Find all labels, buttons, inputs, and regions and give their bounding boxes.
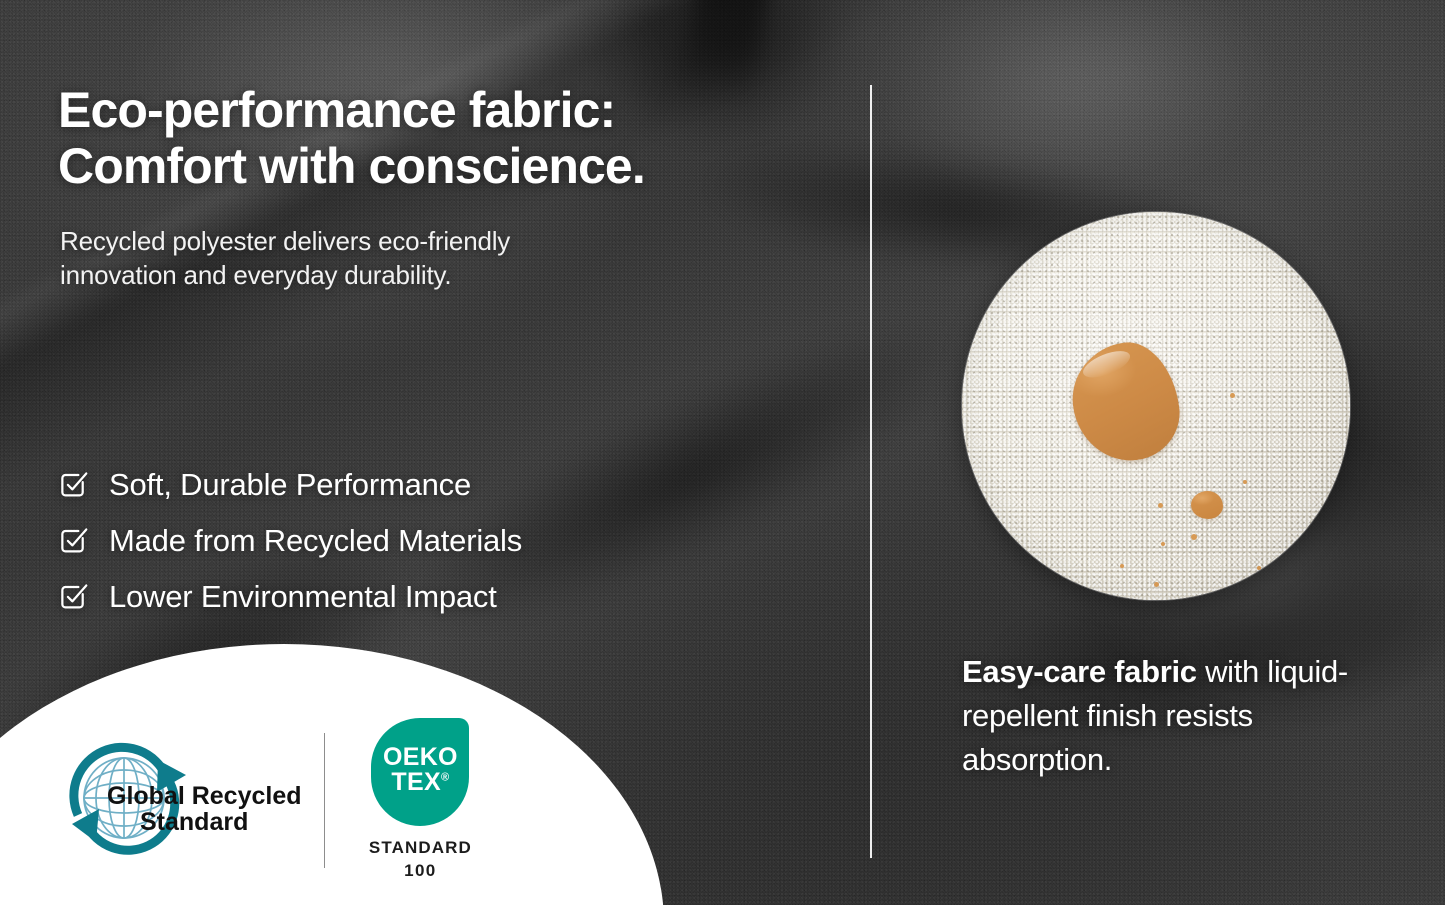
oeko-tex-line-2: TEX® bbox=[391, 770, 449, 796]
caption-emphasis: Easy-care fabric bbox=[962, 654, 1197, 689]
column-divider bbox=[870, 85, 872, 858]
checkbox-check-icon bbox=[58, 525, 89, 556]
checkbox-check-icon bbox=[58, 469, 89, 500]
headline-line-2: Comfort with conscience. bbox=[58, 138, 848, 194]
oeko-tex-standard-number: 100 bbox=[355, 860, 485, 883]
checkbox-check-icon bbox=[58, 581, 89, 612]
oeko-tex-standard-label: STANDARD 100 bbox=[355, 837, 485, 883]
subheadline-line-2: innovation and everyday durability. bbox=[60, 258, 700, 292]
grs-label-line-1: Global Recycled bbox=[107, 782, 300, 810]
fabric-swatch-liquid-repellency-photo bbox=[962, 212, 1350, 600]
headline-line-1: Eco-performance fabric: bbox=[58, 82, 848, 138]
page-title: Eco-performance fabric: Comfort with con… bbox=[58, 82, 848, 194]
feature-label: Made from Recycled Materials bbox=[109, 525, 522, 556]
list-item: Soft, Durable Performance bbox=[58, 456, 522, 512]
grs-label-line-2: Standard bbox=[140, 808, 248, 836]
logo-separator bbox=[324, 733, 325, 868]
swatch-vignette bbox=[962, 212, 1350, 600]
global-recycled-standard-logo: Global Recycled Standard bbox=[62, 742, 300, 858]
page-subtitle: Recycled polyester delivers eco-friendly… bbox=[60, 224, 700, 293]
feature-label: Soft, Durable Performance bbox=[109, 469, 471, 500]
oeko-tex-line-1: OEKO bbox=[383, 745, 458, 771]
list-item: Lower Environmental Impact bbox=[58, 568, 522, 624]
liquid-speck bbox=[1263, 585, 1267, 589]
swatch-caption: Easy-care fabric with liquid-repellent f… bbox=[962, 650, 1392, 782]
feature-label: Lower Environmental Impact bbox=[109, 581, 497, 612]
registered-trademark-icon: ® bbox=[441, 772, 449, 784]
oeko-tex-mark: OEKO TEX® bbox=[371, 718, 469, 826]
oeko-tex-standard-word: STANDARD bbox=[369, 838, 472, 857]
eco-performance-fabric-infographic: Eco-performance fabric: Comfort with con… bbox=[0, 0, 1445, 905]
subheadline-line-1: Recycled polyester delivers eco-friendly bbox=[60, 224, 700, 258]
certification-logos: Global Recycled Standard OEKO TEX® STAND… bbox=[62, 718, 485, 883]
feature-checklist: Soft, Durable Performance Made from Recy… bbox=[58, 456, 522, 624]
oeko-tex-logo: OEKO TEX® STANDARD 100 bbox=[355, 718, 485, 883]
list-item: Made from Recycled Materials bbox=[58, 512, 522, 568]
